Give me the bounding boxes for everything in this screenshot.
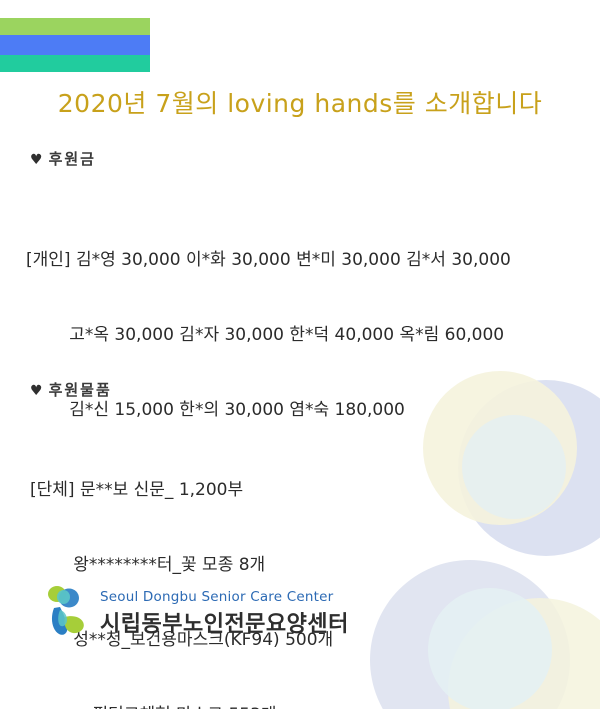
page-title: 2020년 7월의 loving hands를 소개합니다 bbox=[0, 84, 600, 120]
logo-english-name: Seoul Dongbu Senior Care Center bbox=[100, 589, 349, 605]
cream-circle-lower bbox=[448, 598, 600, 709]
color-bar-blue bbox=[0, 35, 150, 55]
color-bar-green bbox=[0, 18, 150, 35]
list-item: 김*신 15,000 한*의 30,000 염*숙 180,000 bbox=[26, 398, 511, 423]
section-heading-donation-goods: ♥후원물품 bbox=[30, 379, 112, 400]
donation-goods-list: [단체] 문**보 신문_ 1,200부 왕********터_꽃 모종 8개 … bbox=[30, 428, 333, 709]
logo-text: Seoul Dongbu Senior Care Center 시립동부노인전문… bbox=[100, 589, 349, 638]
list-item: _필터교체형 마스크 553개 bbox=[30, 703, 333, 709]
periwinkle-circle-lower bbox=[370, 560, 570, 709]
organization-logo: Seoul Dongbu Senior Care Center 시립동부노인전문… bbox=[38, 584, 349, 642]
section-heading-donation-money: ♥후원금 bbox=[30, 148, 96, 169]
list-item: [개인] 김*영 30,000 이*화 30,000 변*미 30,000 김*… bbox=[26, 248, 511, 273]
heart-icon: ♥ bbox=[30, 383, 43, 399]
logo-mark-icon bbox=[38, 584, 96, 642]
heart-icon: ♥ bbox=[30, 152, 43, 168]
pale-blue-circle-lower bbox=[428, 588, 552, 709]
color-bar-teal bbox=[0, 55, 150, 72]
section-heading-label: 후원금 bbox=[49, 150, 96, 168]
list-item: 고*옥 30,000 김*자 30,000 한*덕 40,000 옥*림 60,… bbox=[26, 323, 511, 348]
header-color-bars bbox=[0, 18, 150, 72]
list-item: [단체] 문**보 신문_ 1,200부 bbox=[30, 478, 333, 503]
section-heading-label: 후원물품 bbox=[49, 381, 112, 399]
logo-korean-name: 시립동부노인전문요양센터 bbox=[100, 606, 349, 638]
poster-page: 2020년 7월의 loving hands를 소개합니다 ♥후원금 [개인] … bbox=[0, 0, 600, 709]
list-item: 왕********터_꽃 모종 8개 bbox=[30, 553, 333, 578]
